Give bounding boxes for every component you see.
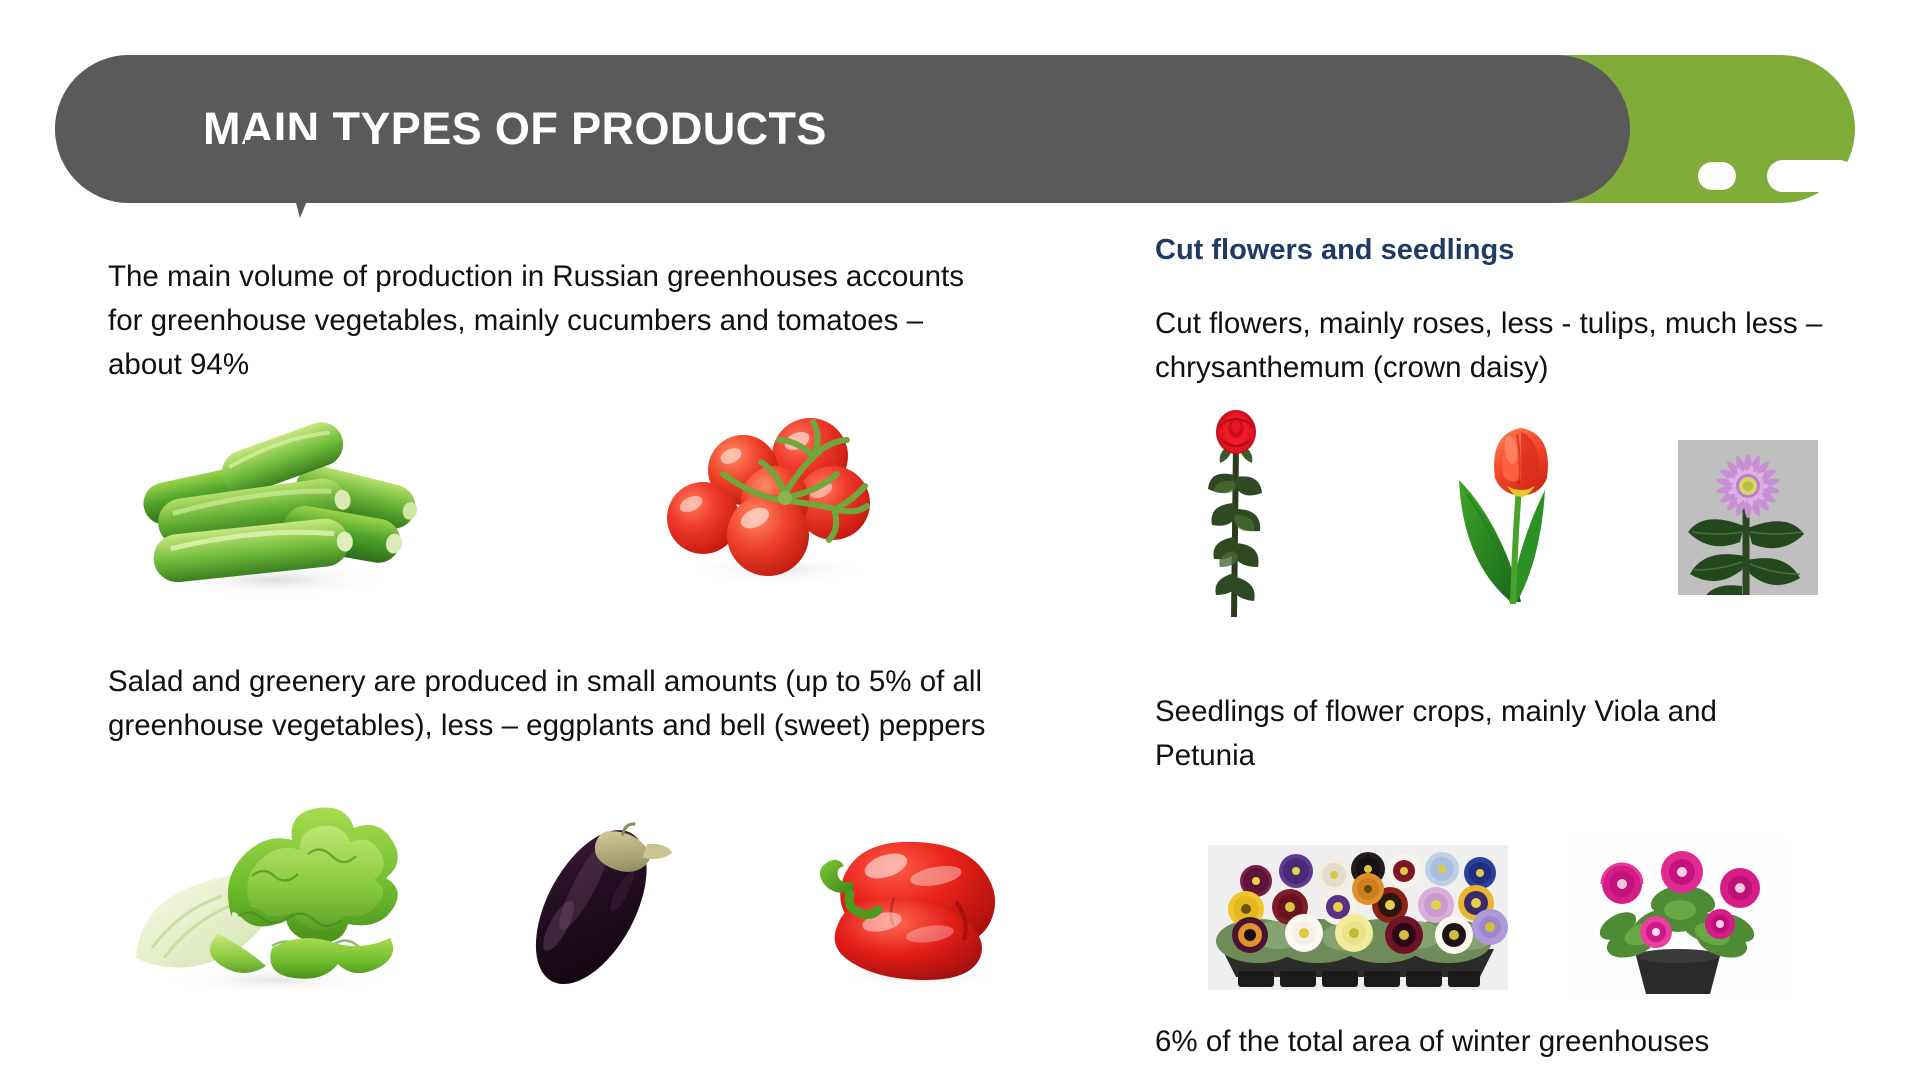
left-paragraph-1: The main volume of production in Russian… bbox=[108, 255, 988, 387]
cucumbers-photo bbox=[125, 408, 420, 603]
eggplant-photo bbox=[495, 800, 695, 1000]
viola-seedlings-photo bbox=[1208, 845, 1508, 990]
tomatoes-photo bbox=[665, 408, 885, 588]
left-paragraph-2: Salad and greenery are produced in small… bbox=[108, 660, 1068, 748]
rose-photo bbox=[1200, 405, 1272, 617]
banner-pill-icon bbox=[1767, 160, 1855, 192]
right-paragraph-2: Seedlings of flower crops, mainly Viola … bbox=[1155, 690, 1825, 778]
banner-speech-tail bbox=[245, 140, 365, 218]
chrysanthemum-photo bbox=[1678, 440, 1818, 595]
right-paragraph-3: 6% of the total area of winter greenhous… bbox=[1155, 1020, 1915, 1064]
petunia-photo bbox=[1570, 838, 1785, 998]
left-column-lower: Salad and greenery are produced in small… bbox=[108, 660, 1088, 748]
right-column-middle: Seedlings of flower crops, mainly Viola … bbox=[1155, 690, 1855, 778]
right-column: Cut flowers and seedlings Cut flowers, m… bbox=[1155, 230, 1855, 390]
slide-canvas: MAIN TYPES OF PRODUCTS The main volume o… bbox=[0, 0, 1920, 1080]
right-column-footer: 6% of the total area of winter greenhous… bbox=[1155, 1020, 1915, 1064]
banner-dot-icon bbox=[1698, 162, 1736, 190]
bell-pepper-photo bbox=[808, 818, 1014, 998]
lettuce-photo bbox=[122, 798, 412, 996]
tulip-photo bbox=[1455, 420, 1605, 610]
right-paragraph-1: Cut flowers, mainly roses, less - tulips… bbox=[1155, 302, 1825, 390]
right-column-heading: Cut flowers and seedlings bbox=[1155, 230, 1855, 270]
left-column: The main volume of production in Russian… bbox=[108, 255, 1068, 387]
